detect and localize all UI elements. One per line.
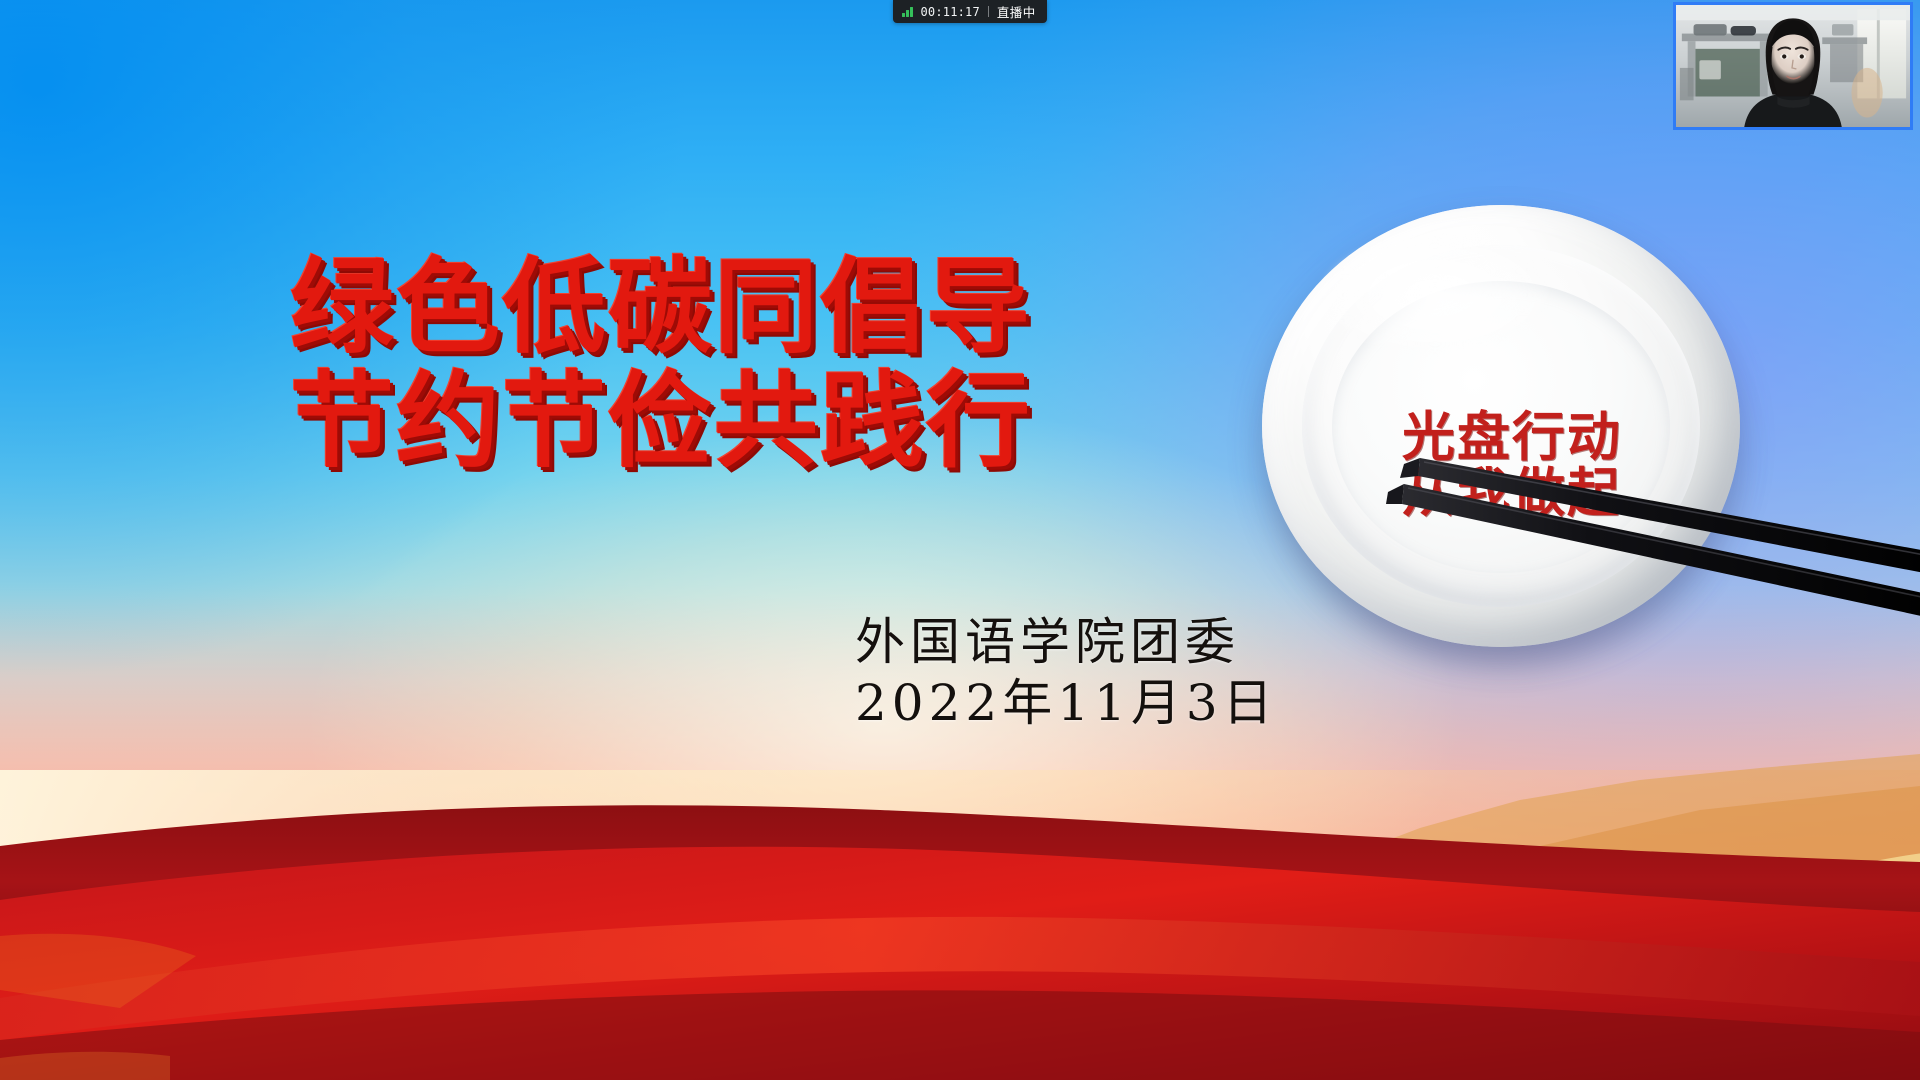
red-ribbon-decoration	[0, 740, 1920, 1080]
chopsticks-graphic	[1300, 380, 1920, 700]
self-view-video-tile[interactable]	[1673, 2, 1913, 130]
elapsed-time-label: 00:11:17	[921, 5, 980, 19]
presentation-date: 2022年11月3日	[855, 673, 1278, 734]
slide-title-line-2: 节约节俭共践行	[290, 366, 1190, 476]
badge-divider	[988, 6, 989, 17]
organization-name: 外国语学院团委	[855, 612, 1278, 673]
slide-subtitle: 外国语学院团委 2022年11月3日	[855, 612, 1278, 734]
live-status-label: 直播中	[997, 2, 1036, 21]
slide-title: 绿色低碳同倡导 节约节俭共践行	[290, 252, 1190, 476]
signal-bars-icon	[902, 6, 913, 17]
plate-highlight	[1320, 235, 1550, 355]
slide-presentation-screen: 光盘行动 从我做起 绿色低碳同倡导	[0, 0, 1920, 1080]
webcam-video-frame	[1676, 5, 1910, 127]
live-status-badge[interactable]: 00:11:17 直播中	[893, 0, 1047, 23]
chopsticks-shape	[1300, 380, 1920, 700]
slide-title-line-1: 绿色低碳同倡导	[290, 252, 1190, 362]
red-ribbon-shape	[0, 740, 1920, 1080]
webcam-video-content	[1676, 5, 1910, 127]
